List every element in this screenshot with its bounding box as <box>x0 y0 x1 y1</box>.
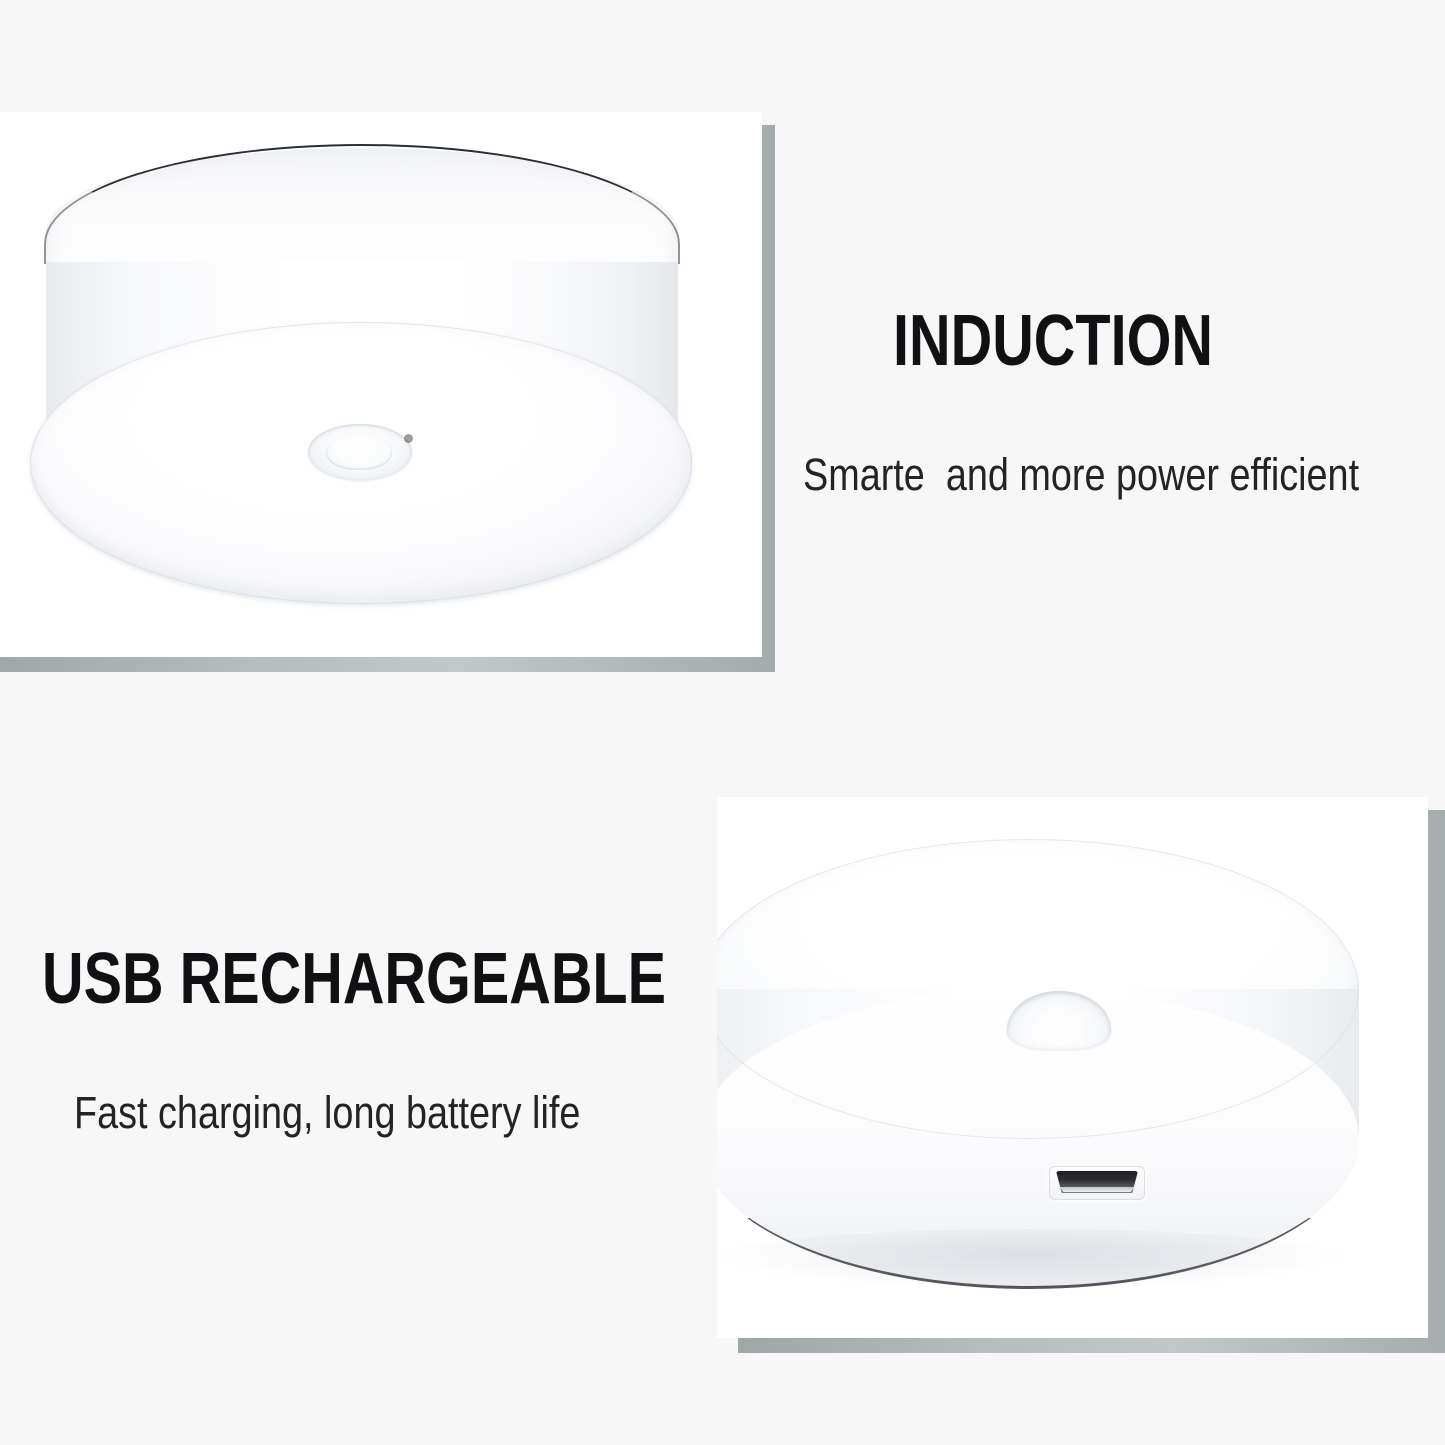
product-photo-induction <box>0 112 762 657</box>
feature-subline-induction: Smarte and more power efficient <box>803 452 1359 497</box>
pir-sensor-lens <box>326 434 392 470</box>
feature-headline-usb-rechargeable: USB RECHARGEABLE <box>42 943 666 1015</box>
feature-headline-induction: INDUCTION <box>893 305 1213 377</box>
puck-top-face-edge <box>717 839 1359 1139</box>
pir-sensor-indicator-icon <box>404 434 413 443</box>
puck-light-front-view <box>8 142 708 612</box>
puck-light-top-view <box>717 839 1389 1309</box>
puck-drop-shadow <box>717 1229 1343 1289</box>
infographic-canvas: INDUCTION Smarte and more power efficien… <box>0 0 1445 1445</box>
product-photo-usb-rechargeable <box>717 797 1428 1338</box>
micro-usb-port-lip <box>1058 1187 1136 1192</box>
feature-subline-usb-rechargeable: Fast charging, long battery life <box>74 1090 580 1135</box>
